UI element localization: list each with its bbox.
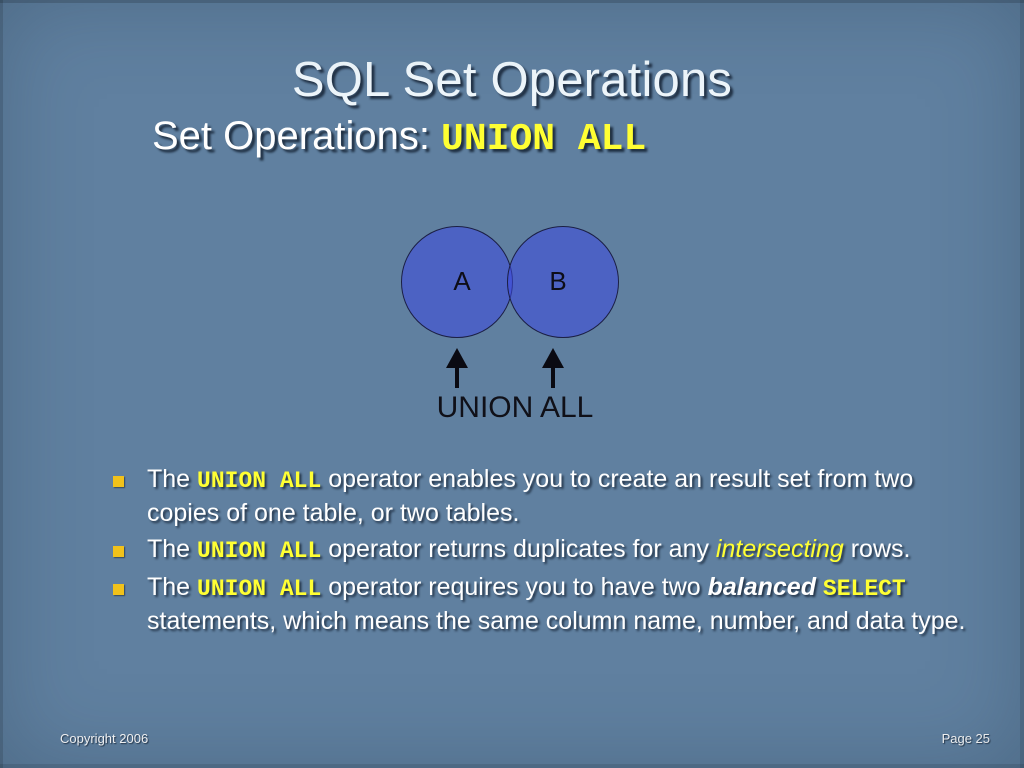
bullet-square-icon bbox=[113, 476, 124, 487]
inline-keyword: SELECT bbox=[823, 576, 906, 602]
bullet-text: The UNION ALL operator requires you to h… bbox=[147, 573, 966, 635]
list-item: The UNION ALL operator enables you to cr… bbox=[113, 463, 983, 529]
inline-text: The bbox=[147, 465, 197, 493]
bullet-list: The UNION ALL operator enables you to cr… bbox=[113, 463, 983, 641]
inline-text bbox=[816, 573, 823, 601]
inline-text: operator returns duplicates for any bbox=[321, 535, 716, 563]
title-block: SQL Set Operations Set Operations: UNION… bbox=[0, 52, 1024, 163]
venn-label-a: A bbox=[447, 266, 477, 297]
inline-text: The bbox=[147, 535, 197, 563]
bullet-text: The UNION ALL operator returns duplicate… bbox=[147, 535, 910, 563]
inline-keyword: balanced bbox=[708, 573, 816, 601]
footer-page-number: Page 25 bbox=[942, 731, 990, 746]
inline-keyword: intersecting bbox=[716, 535, 844, 563]
venn-diagram: A B UNION ALL bbox=[395, 218, 635, 438]
inline-keyword: UNION ALL bbox=[197, 468, 321, 494]
list-item: The UNION ALL operator returns duplicate… bbox=[113, 533, 983, 567]
inline-text: rows. bbox=[844, 535, 911, 563]
bullet-square-icon bbox=[113, 584, 124, 595]
page-title: SQL Set Operations bbox=[0, 52, 1024, 108]
bullet-square-icon bbox=[113, 546, 124, 557]
inline-keyword: UNION ALL bbox=[197, 538, 321, 564]
inline-text: statements, which means the same column … bbox=[147, 607, 966, 635]
footer-copyright: Copyright 2006 bbox=[60, 731, 148, 746]
venn-label-b: B bbox=[543, 266, 573, 297]
subtitle: Set Operations: UNION ALL bbox=[0, 113, 1024, 163]
inline-text: The bbox=[147, 573, 197, 601]
subtitle-plain-text: Set Operations: bbox=[152, 114, 441, 158]
arrow-up-icon-b bbox=[542, 348, 564, 388]
inline-text: operator requires you to have two bbox=[321, 573, 707, 601]
bullet-text: The UNION ALL operator enables you to cr… bbox=[147, 465, 913, 527]
arrow-up-icon-a bbox=[446, 348, 468, 388]
slide-canvas: SQL Set Operations Set Operations: UNION… bbox=[0, 0, 1024, 768]
inline-keyword: UNION ALL bbox=[197, 576, 321, 602]
subtitle-keyword: UNION ALL bbox=[441, 118, 646, 161]
list-item: The UNION ALL operator requires you to h… bbox=[113, 571, 983, 637]
venn-caption: UNION ALL bbox=[335, 391, 695, 425]
